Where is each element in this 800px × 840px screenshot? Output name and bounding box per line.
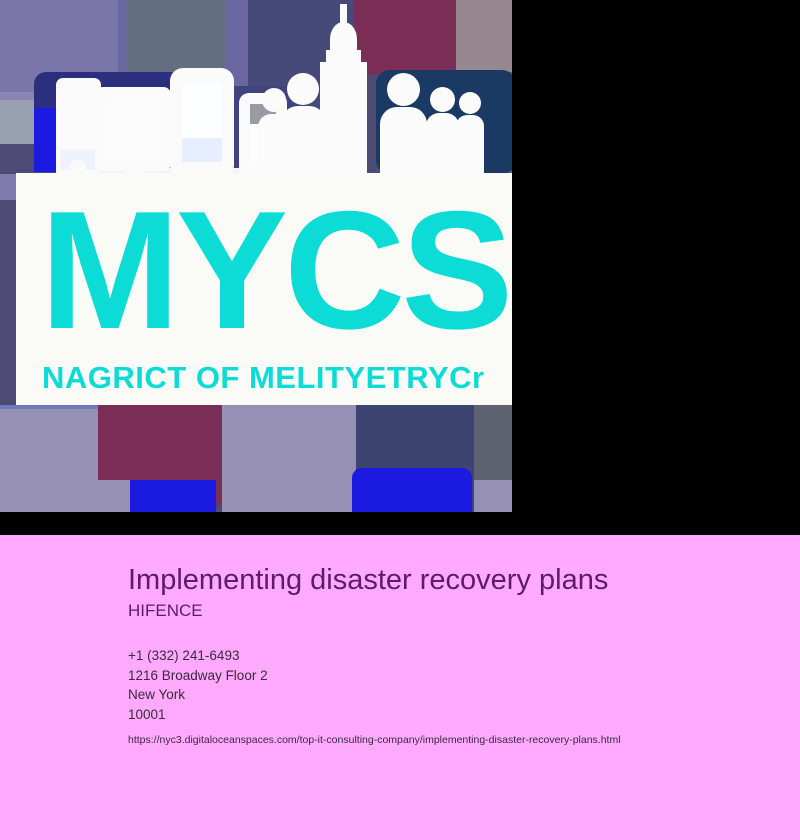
bottom-block-blue bbox=[130, 480, 216, 512]
logo-banner: MYCS NAGRICT OF MELITYETRYCr bbox=[16, 173, 512, 405]
source-url-link[interactable]: https://nyc3.digitaloceanspaces.com/top-… bbox=[128, 733, 621, 747]
logo-subtitle: NAGRICT OF MELITYETRYCr bbox=[42, 361, 485, 395]
person-icon-2-head bbox=[287, 73, 319, 105]
monitor-screen bbox=[105, 98, 161, 160]
contact-block: +1 (332) 241-6493 1216 Broadway Floor 2 … bbox=[128, 646, 268, 724]
logo-wordmark: MYCS bbox=[40, 175, 509, 365]
background-block-slate bbox=[126, 0, 226, 74]
bottom-block-mauve-4 bbox=[98, 480, 130, 512]
hero-image: MYCS NAGRICT OF MELITYETRYCr bbox=[0, 0, 512, 512]
contact-zip: 10001 bbox=[128, 705, 268, 725]
contact-street: 1216 Broadway Floor 2 bbox=[128, 666, 268, 686]
contact-phone[interactable]: +1 (332) 241-6493 bbox=[128, 646, 268, 666]
bottom-block-mauve bbox=[0, 405, 98, 512]
bottom-block-blue-2 bbox=[352, 468, 472, 512]
person-icon-1-head bbox=[262, 88, 286, 112]
page-title: Implementing disaster recovery plans bbox=[128, 563, 608, 597]
bottom-block-mauve-3 bbox=[474, 480, 512, 512]
contact-city: New York bbox=[128, 685, 268, 705]
background-block-mauve bbox=[456, 0, 512, 72]
person-icon-3-body bbox=[380, 107, 427, 174]
person-icon-4-body bbox=[426, 113, 459, 174]
person-icon-2-body bbox=[281, 106, 326, 174]
bottom-block-mauve-2 bbox=[222, 405, 356, 512]
person-icon-3-head bbox=[387, 73, 420, 106]
person-icon-4-head bbox=[430, 87, 455, 112]
person-icon-5-body bbox=[456, 115, 484, 174]
background-block-maroon bbox=[354, 0, 456, 74]
company-name: HIFENCE bbox=[128, 600, 203, 622]
tower-body-icon bbox=[320, 62, 367, 174]
info-panel: Implementing disaster recovery plans HIF… bbox=[0, 535, 800, 840]
person-icon-5-head bbox=[459, 92, 481, 114]
bottom-divider-line bbox=[0, 405, 98, 409]
device-foot bbox=[70, 160, 86, 174]
bottom-block-slate bbox=[474, 405, 512, 480]
tablet-screen-glow bbox=[182, 138, 222, 162]
